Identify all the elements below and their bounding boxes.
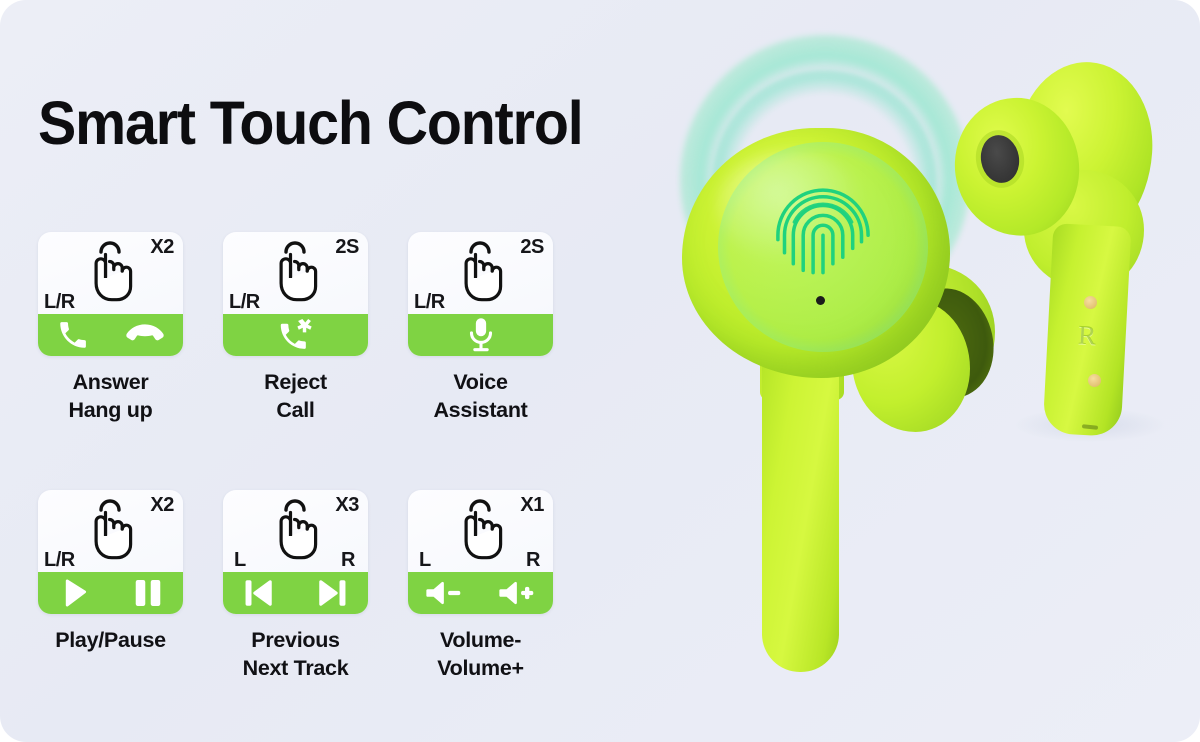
card-caption: Voice Assistant xyxy=(408,369,553,425)
card-row-1: X2 L/R xyxy=(38,232,593,425)
infographic-canvas: Smart Touch Control X2 L/R xyxy=(0,0,1200,742)
card-action-band xyxy=(408,572,553,614)
play-icon[interactable] xyxy=(58,576,92,610)
card-action-band xyxy=(38,572,183,614)
card-caption: Reject Call xyxy=(223,369,368,425)
count-badge: 2S xyxy=(335,236,359,259)
hand-tap-icon xyxy=(453,496,509,569)
caption-line: Volume+ xyxy=(408,655,553,683)
card-action-band xyxy=(408,314,553,356)
card-caption: Volume- Volume+ xyxy=(408,627,553,683)
pause-icon[interactable] xyxy=(133,576,163,610)
hand-tap-icon xyxy=(268,496,324,569)
card-reject-call[interactable]: 2S L/R xyxy=(223,232,368,356)
caption-line: Reject xyxy=(223,369,368,397)
caption-line: Assistant xyxy=(408,397,553,425)
touch-control-card-grid: X2 L/R xyxy=(38,232,593,683)
skip-previous-icon[interactable] xyxy=(242,577,276,609)
card-top-area: X3 L R xyxy=(223,490,368,572)
caption-line: Previous xyxy=(223,627,368,655)
card-cell-answer-hangup: X2 L/R xyxy=(38,232,223,425)
side-label: L/R xyxy=(44,549,75,572)
caption-line: Play/Pause xyxy=(38,627,183,655)
charging-contact-icon xyxy=(1088,374,1101,387)
caption-line: Volume- xyxy=(408,627,553,655)
side-label: L/R xyxy=(414,291,445,314)
product-photo: R xyxy=(620,0,1200,742)
card-caption: Play/Pause xyxy=(38,627,183,655)
charging-contact-icon xyxy=(1084,296,1097,309)
card-row-2: X2 L/R xyxy=(38,490,593,683)
skip-next-icon[interactable] xyxy=(315,577,349,609)
card-top-area: 2S L/R xyxy=(408,232,553,314)
card-action-band xyxy=(38,314,183,356)
card-action-band xyxy=(223,314,368,356)
volume-down-icon[interactable] xyxy=(425,578,463,608)
card-cell-previous-next-track: X3 L R xyxy=(223,490,408,683)
caption-line: Next Track xyxy=(223,655,368,683)
card-top-area: X2 L/R xyxy=(38,490,183,572)
card-cell-volume: X1 L R xyxy=(408,490,593,683)
led-dot xyxy=(816,296,825,305)
card-voice-assistant[interactable]: 2S L/R xyxy=(408,232,553,356)
card-top-area: X1 L R xyxy=(408,490,553,572)
microphone-icon[interactable] xyxy=(466,317,496,353)
side-label-right: R xyxy=(341,549,355,572)
hand-tap-icon xyxy=(268,238,324,311)
phone-hangup-icon[interactable] xyxy=(125,318,165,352)
caption-line: Hang up xyxy=(38,397,183,425)
side-label: L/R xyxy=(44,291,75,314)
card-volume[interactable]: X1 L R xyxy=(408,490,553,614)
card-play-pause[interactable]: X2 L/R xyxy=(38,490,183,614)
caption-line: Call xyxy=(223,397,368,425)
card-cell-play-pause: X2 L/R xyxy=(38,490,223,683)
card-top-area: 2S L/R xyxy=(223,232,368,314)
hand-tap-icon xyxy=(83,238,139,311)
count-badge: X3 xyxy=(335,494,359,517)
count-badge: X2 xyxy=(150,494,174,517)
side-label-left: L xyxy=(419,549,431,572)
hand-tap-icon xyxy=(453,238,509,311)
card-cell-reject-call: 2S L/R xyxy=(223,232,408,425)
count-badge: X1 xyxy=(520,494,544,517)
caption-line: Voice xyxy=(408,369,553,397)
card-previous-next-track[interactable]: X3 L R xyxy=(223,490,368,614)
card-caption: Previous Next Track xyxy=(223,627,368,683)
caption-line: Answer xyxy=(38,369,183,397)
side-label-left: L xyxy=(234,549,246,572)
hand-tap-icon xyxy=(83,496,139,569)
card-top-area: X2 L/R xyxy=(38,232,183,314)
side-label-right: R xyxy=(526,549,540,572)
card-caption: Answer Hang up xyxy=(38,369,183,425)
right-channel-mark: R xyxy=(1077,320,1097,352)
count-badge: X2 xyxy=(150,236,174,259)
left-earbud-stem xyxy=(762,352,839,672)
count-badge: 2S xyxy=(520,236,544,259)
side-label: L/R xyxy=(229,291,260,314)
card-cell-voice-assistant: 2S L/R xyxy=(408,232,593,425)
phone-answer-icon[interactable] xyxy=(56,318,90,352)
volume-up-icon[interactable] xyxy=(498,578,536,608)
card-answer-hangup[interactable]: X2 L/R xyxy=(38,232,183,356)
card-action-band xyxy=(223,572,368,614)
fingerprint-icon xyxy=(768,178,878,288)
phone-reject-icon[interactable] xyxy=(275,317,317,353)
page-title: Smart Touch Control xyxy=(38,88,583,158)
